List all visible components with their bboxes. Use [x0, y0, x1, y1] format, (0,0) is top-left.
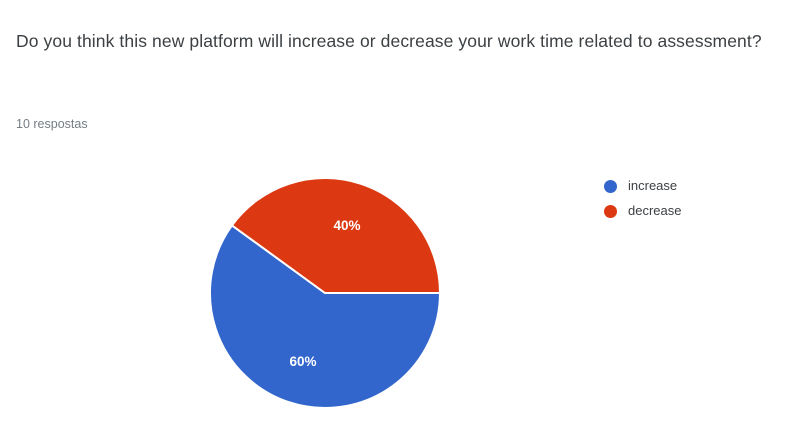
legend-item-label: increase [628, 178, 677, 194]
pie-chart-svg: 60%40% [180, 150, 480, 436]
response-count-label: 10 respostas [16, 116, 88, 132]
legend-item-decrease[interactable]: decrease [604, 203, 681, 219]
legend-item-label: decrease [628, 203, 681, 219]
pie-chart: 60%40% increase decrease [0, 150, 800, 436]
chart-legend: increase decrease [604, 178, 681, 219]
pie-slice-label-decrease: 40% [334, 218, 361, 233]
legend-item-increase[interactable]: increase [604, 178, 681, 194]
page-title: Do you think this new platform will incr… [16, 26, 776, 56]
circle-dot-icon [604, 180, 617, 193]
pie-slice-label-increase: 60% [289, 354, 316, 369]
circle-dot-icon [604, 205, 617, 218]
